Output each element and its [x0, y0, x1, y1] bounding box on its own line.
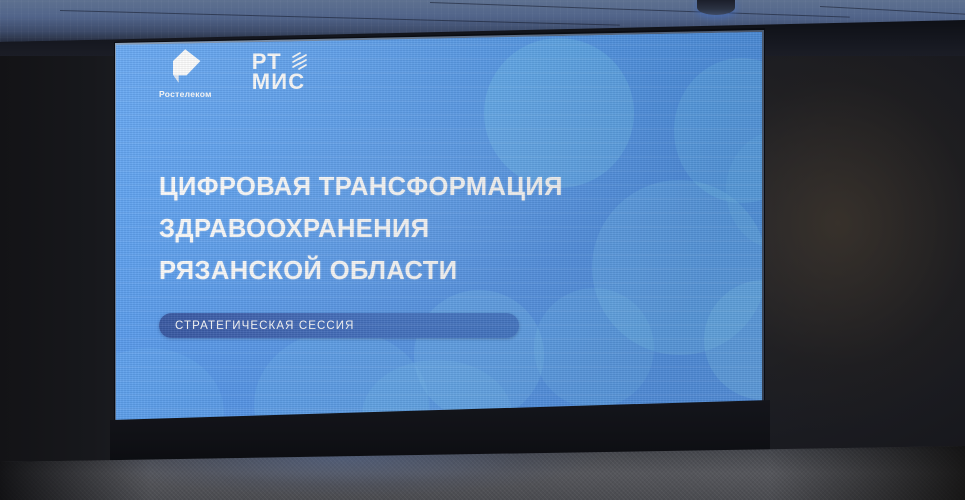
ceiling-light-fixture-icon [697, 0, 735, 15]
session-type-badge: СТРАТЕГИЧЕСКАЯ СЕССИЯ [159, 313, 519, 338]
slide-title: ЦИФРОВАЯ ТРАНСФОРМАЦИЯ ЗДРАВООХРАНЕНИЯ Р… [159, 166, 563, 292]
title-line-1: ЦИФРОВАЯ ТРАНСФОРМАЦИЯ [159, 166, 563, 208]
rostelecom-ear-mark-icon [168, 48, 202, 84]
wall-warm-light-pool [760, 30, 965, 460]
title-line-3: РЯЗАНСКОЙ ОБЛАСТИ [159, 250, 563, 292]
session-type-badge-label: СТРАТЕГИЧЕСКАЯ СЕССИЯ [159, 320, 355, 332]
presentation-room-scene: Ростелеком РТ МИС [0, 0, 965, 500]
wall-left-shadow [0, 28, 130, 468]
decorative-circle [534, 288, 654, 408]
title-slide: Ростелеком РТ МИС [114, 30, 763, 424]
title-line-2: ЗДРАВООХРАНЕНИЯ [159, 208, 563, 250]
led-screen[interactable]: Ростелеком РТ МИС [114, 30, 763, 424]
rt-mis-logo: РТ МИС [252, 52, 306, 92]
diagonal-dashes-mark-icon [291, 52, 307, 71]
slide-logo-row: Ростелеком РТ МИС [159, 48, 305, 99]
rostelecom-wordmark: Ростелеком [159, 89, 212, 99]
floor-shadow-right [770, 440, 965, 500]
rostelecom-logo: Ростелеком [159, 48, 212, 99]
decorative-circle [114, 348, 224, 424]
rt-mis-line-2: МИС [252, 72, 306, 92]
